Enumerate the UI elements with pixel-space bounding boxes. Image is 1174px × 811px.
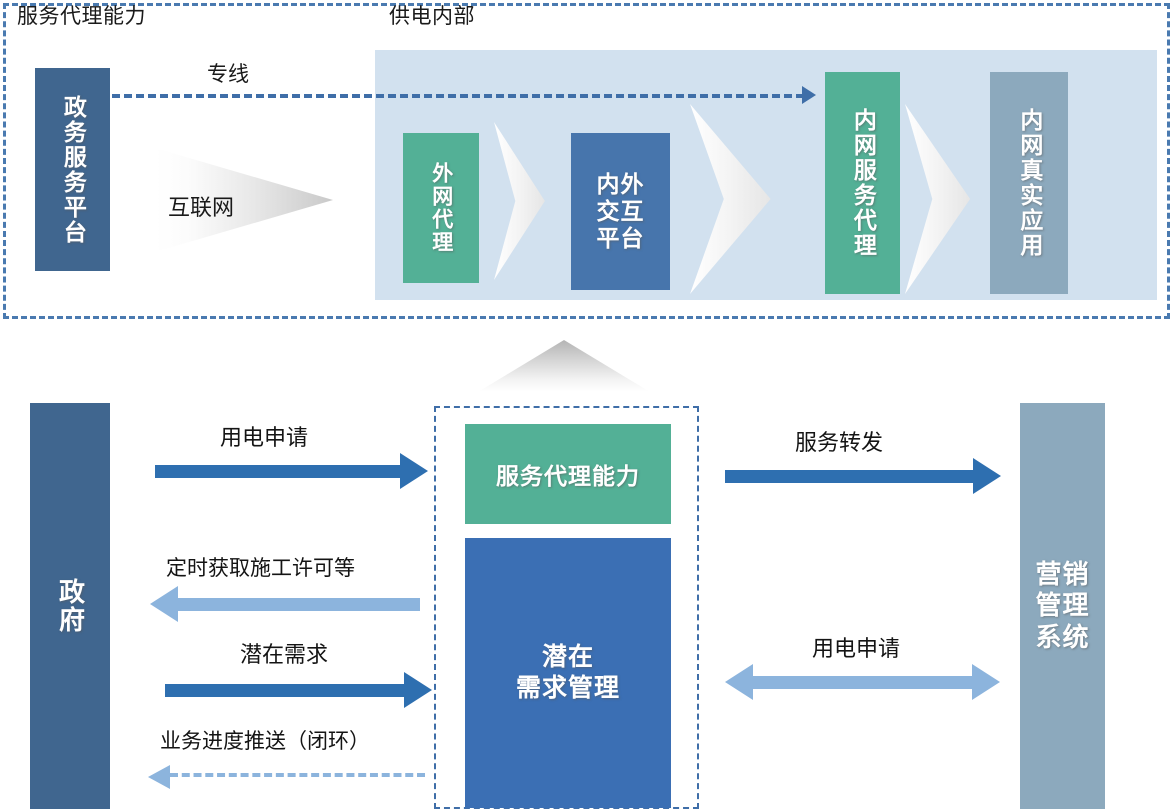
- arrow-latent-demand-shaft: [165, 684, 408, 697]
- arrow-business-progress-push-shaft: [170, 773, 425, 777]
- arrow-power-application-left-shaft: [155, 465, 404, 478]
- arrow-latent-demand-head-icon: [404, 672, 432, 708]
- arrow-power-application-right-shaft: [750, 676, 978, 689]
- internet-label: 互联网: [168, 190, 234, 222]
- node-label: 外网代理: [429, 162, 453, 254]
- arrow-service-forward-head-icon: [973, 458, 1001, 494]
- arrow-label-service-forward: 服务转发: [795, 425, 883, 457]
- arrow-label-power-application-right: 用电申请: [812, 631, 900, 663]
- node-label: 内网服务代理: [850, 108, 876, 258]
- node-gov-service-platform[interactable]: 政务服务平台: [35, 68, 110, 271]
- node-label: 内外 交互 平台: [597, 171, 645, 252]
- arrow-power-application-left-head-icon: [400, 453, 428, 489]
- node-label: 政务服务平台: [60, 95, 86, 245]
- node-label: 政府: [55, 578, 84, 634]
- dedicated-line-connector: [112, 94, 804, 98]
- dedicated-line-label: 专线: [207, 58, 249, 88]
- region-label-service-agent-capability: 服务代理能力: [17, 0, 146, 30]
- arrow-power-application-right-head-left-icon: [725, 664, 753, 700]
- node-label: 服务代理能力: [496, 457, 640, 491]
- arrow-scheduled-construction-permit-head-icon: [150, 586, 178, 622]
- node-external-network-proxy[interactable]: 外网代理: [403, 133, 479, 283]
- arrow-label-latent-demand: 潜在需求: [240, 637, 328, 669]
- node-intranet-real-application[interactable]: 内网真实应用: [990, 72, 1068, 294]
- arrow-business-progress-push-head-icon: [148, 765, 170, 789]
- node-label: 营销 管理 系统: [1035, 559, 1089, 653]
- node-internal-external-interaction-platform[interactable]: 内外 交互 平台: [571, 133, 670, 290]
- node-government[interactable]: 政府: [30, 403, 110, 809]
- arrow-scheduled-construction-permit-shaft: [178, 598, 420, 611]
- node-marketing-management-system[interactable]: 营销 管理 系统: [1020, 403, 1105, 809]
- diagram-canvas: 服务代理能力 供电内部 互联网 专线 政务服务平台 外网代理 内外 交互 平台 …: [0, 0, 1174, 811]
- arrow-service-forward-shaft: [725, 470, 977, 483]
- arrow-label-power-application-left: 用电申请: [220, 420, 308, 452]
- node-service-agent-capability[interactable]: 服务代理能力: [465, 424, 671, 524]
- dedicated-line-arrowhead-icon: [802, 86, 816, 104]
- node-label: 内网真实应用: [1016, 108, 1042, 258]
- node-intranet-service-proxy[interactable]: 内网服务代理: [825, 72, 900, 294]
- node-label: 潜在 需求管理: [516, 642, 620, 705]
- arrow-power-application-right-head-right-icon: [972, 664, 1000, 700]
- arrow-label-scheduled-construction-permit: 定时获取施工许可等: [166, 552, 355, 582]
- upward-chevron-icon: [478, 340, 650, 392]
- arrow-label-business-progress-push: 业务进度推送（闭环）: [160, 725, 370, 755]
- node-latent-demand-management[interactable]: 潜在 需求管理: [465, 538, 671, 808]
- region-label-power-supply-internal: 供电内部: [389, 0, 475, 30]
